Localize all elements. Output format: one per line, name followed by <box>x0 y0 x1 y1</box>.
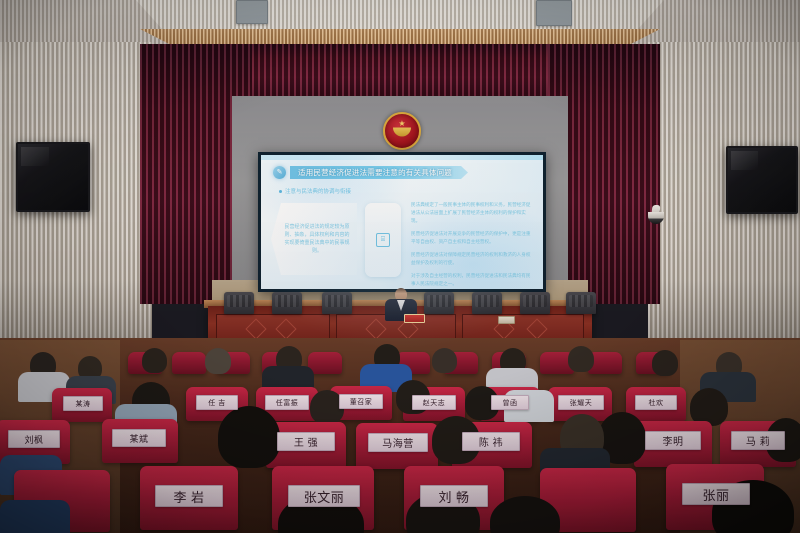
camera-dome <box>648 212 664 224</box>
podium-chair <box>224 292 254 314</box>
slide-paragraph-column: 民法典规定了一般民事主体的民事权利和义务，民营经济促进法从公法层面上扩展了民营经… <box>411 201 533 289</box>
document-icon: ⌸ <box>376 233 390 247</box>
slide-paragraph: 对于涉及自主经营的权利，民营经济促进法和民法典均有民事人民法院规定之一。 <box>411 272 533 288</box>
podium-diamond-motif <box>527 318 548 339</box>
bullet-dot-icon <box>279 190 282 193</box>
seat-name-placard: 任 吉 <box>196 395 238 410</box>
audience-person <box>432 348 457 373</box>
speaker-nameplate <box>404 314 425 323</box>
podium-chair <box>424 292 454 314</box>
slide-title-row: ✎ 适用民营经济促进法需要注意的有关具体问题 <box>273 166 468 179</box>
slide-subhead-row: 注意与民法典的协调与衔接 <box>279 187 351 195</box>
podium-chair <box>322 292 352 314</box>
seat-name-placard: 李明 <box>645 431 701 450</box>
curtain-pleats-center <box>252 44 548 100</box>
seat-name-placard: 马 莉 <box>731 431 785 450</box>
seat-name-placard: 张丽 <box>682 483 750 505</box>
audience-person <box>218 406 280 468</box>
audience-person <box>568 346 594 372</box>
slide-paragraph: 民法典规定了一般民事主体的民事权利和义务，民营经济促进法从公法层面上扩展了民营经… <box>411 201 533 225</box>
seat-name-placard: 马海营 <box>368 433 428 452</box>
podium-chair <box>566 292 596 314</box>
seat-name-placard: 王 强 <box>277 432 335 451</box>
ptz-camera-icon <box>648 205 664 225</box>
seat-name-placard: 李 岩 <box>155 485 223 507</box>
seat-name-placard: 曾函 <box>491 395 529 410</box>
left-monitor-glint <box>21 147 49 167</box>
seat-name-placard: 陈 祎 <box>462 432 520 451</box>
ceiling-wood-band-texture <box>140 29 660 45</box>
right-wall-monitor <box>726 146 798 214</box>
slide-icon-card: ⌸ <box>365 203 401 277</box>
ceiling-vent-panel-left <box>236 0 268 24</box>
seat-name-placard: 张耀天 <box>558 395 604 410</box>
podium-chair <box>520 292 550 314</box>
seat-name-placard: 董召家 <box>339 394 383 409</box>
right-monitor-glint <box>731 151 758 170</box>
podium-diamond-motif <box>276 318 297 339</box>
projection-screen: ✎ 适用民营经济促进法需要注意的有关具体问题 注意与民法典的协调与衔接 民营经济… <box>258 152 546 292</box>
slide-chevron-card: 民营经济促进法的规定较为原则、抽象，具体权利和内容的实现要倚重民法典中的民事规则… <box>271 203 357 275</box>
seat-name-placard: 张文丽 <box>288 485 360 507</box>
seat <box>308 352 342 374</box>
slide-top-accent-bar <box>261 155 543 160</box>
slide-title: 适用民营经济促进法需要注意的有关具体问题 <box>298 167 452 178</box>
seat-name-placard: 刘枫 <box>8 430 60 448</box>
podium-nameplate-secondary <box>498 316 515 324</box>
podium-chair <box>472 292 502 314</box>
ceiling-vent-panel-right <box>536 0 572 26</box>
emblem-wheat-base <box>393 128 411 137</box>
audience-torso <box>0 500 70 533</box>
national-emblem-icon: ★ <box>383 112 421 150</box>
seat-name-placard: 刘 畅 <box>420 485 488 507</box>
audience-person <box>205 348 231 374</box>
pencil-badge-icon: ✎ <box>273 166 286 179</box>
conference-hall-photo: ★ ✎ 适用民营经济促进法需要注意的有关具体问题 注意与民法典的协调与衔接 民营… <box>0 0 800 533</box>
audience-person <box>652 350 678 376</box>
audience-person <box>142 348 167 373</box>
presentation-slide: ✎ 适用民营经济促进法需要注意的有关具体问题 注意与民法典的协调与衔接 民营经济… <box>261 155 543 289</box>
seat-name-placard: 赵天志 <box>412 395 456 410</box>
slide-chevron-text: 民营经济促进法的规定较为原则、抽象，具体权利和内容的实现要倚重民法典中的民事规则… <box>283 223 351 256</box>
seat-name-placard: 某斌 <box>112 429 166 447</box>
slide-paragraph: 民营经济促进法对保障规定民营经济的权利和救济的人身权益保护及权利的行使。 <box>411 251 533 267</box>
stage-curtain-center-top <box>252 44 548 100</box>
seat-name-placard: 杜欢 <box>635 395 677 410</box>
podium-chair <box>272 292 302 314</box>
slide-title-ribbon: 适用民营经济促进法需要注意的有关具体问题 <box>290 166 468 179</box>
seat <box>172 352 206 374</box>
slide-subhead: 注意与民法典的协调与衔接 <box>285 187 351 195</box>
slide-paragraph: 民营经济促进法对开展竞争的民营经济的保护中，更是注重平等自由权、资产自主权和自主… <box>411 230 533 246</box>
seat-name-placard: 某涛 <box>63 396 103 411</box>
left-wall-monitor <box>16 142 90 212</box>
seat-name-placard: 任富振 <box>265 395 309 410</box>
podium-diamond-motif <box>246 318 267 339</box>
